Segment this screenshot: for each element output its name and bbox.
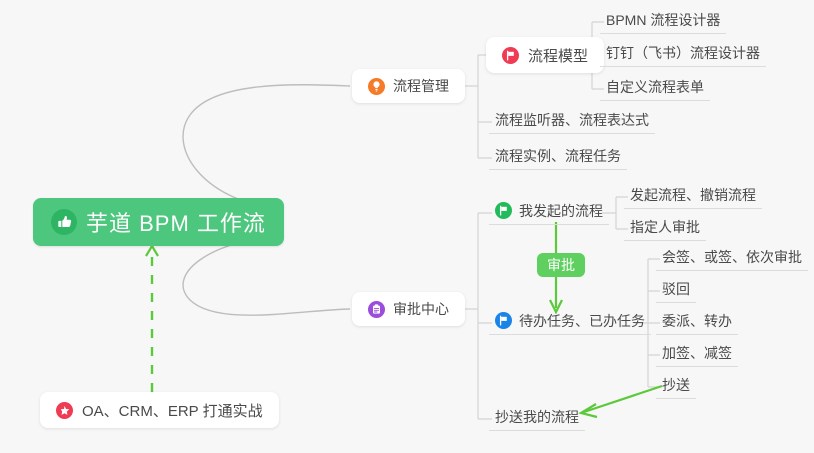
leaf-label: 钉钉（飞书）流程设计器 bbox=[606, 43, 760, 63]
leaf-label: 指定人审批 bbox=[630, 217, 700, 237]
leaf-custom-form[interactable]: 自定义流程表单 bbox=[600, 77, 710, 101]
lightbulb-pin-icon bbox=[368, 78, 385, 95]
node-label-todo-done-tasks: 待办任务、已办任务 bbox=[519, 311, 645, 331]
leaf-label: 驳回 bbox=[662, 279, 690, 299]
node-my-initiated-flows[interactable]: 我发起的流程 bbox=[489, 201, 609, 225]
flag-icon bbox=[495, 312, 512, 329]
flag-icon bbox=[502, 47, 519, 64]
leaf-add-remove-sign[interactable]: 加签、减签 bbox=[656, 343, 738, 367]
leaf-process-instance-task[interactable]: 流程实例、流程任务 bbox=[489, 146, 627, 170]
approval-badge-label: 审批 bbox=[547, 257, 575, 273]
leaf-countersign-modes[interactable]: 会签、或签、依次审批 bbox=[656, 247, 808, 271]
node-label-my-initiated-flows: 我发起的流程 bbox=[519, 201, 603, 221]
connector-ac-trunk bbox=[464, 213, 492, 419]
node-process-model[interactable]: 流程模型 bbox=[486, 37, 604, 73]
leaf-label: 加签、减签 bbox=[662, 343, 732, 363]
leaf-label: 会签、或签、依次审批 bbox=[662, 247, 802, 267]
mindmap-canvas: 芋道 BPM 工作流 流程管理 流程模型 BPMN 流程设计器 钉钉（飞书 bbox=[0, 0, 814, 453]
connector-root-to-process-management bbox=[183, 85, 350, 208]
leaf-cc[interactable]: 抄送 bbox=[656, 375, 696, 399]
connector-root-to-approval-center bbox=[183, 236, 350, 315]
leaf-label: 抄送 bbox=[662, 375, 690, 395]
bottom-note-label: OA、CRM、ERP 打通实战 bbox=[82, 400, 263, 421]
root-label: 芋道 BPM 工作流 bbox=[86, 206, 266, 238]
leaf-process-listener-expression[interactable]: 流程监听器、流程表达式 bbox=[489, 110, 655, 134]
leaf-label: 抄送我的流程 bbox=[495, 407, 579, 427]
flag-icon bbox=[495, 202, 512, 219]
branch-node-process-management[interactable]: 流程管理 bbox=[352, 69, 465, 103]
leaf-dingtalk-feishu-designer[interactable]: 钉钉（飞书）流程设计器 bbox=[600, 43, 766, 67]
star-icon bbox=[56, 402, 73, 419]
leaf-cc-to-me-flows[interactable]: 抄送我的流程 bbox=[489, 407, 585, 431]
leaf-start-cancel-flow[interactable]: 发起流程、撤销流程 bbox=[624, 185, 762, 209]
clipboard-icon bbox=[368, 301, 385, 318]
leaf-delegate-transfer[interactable]: 委派、转办 bbox=[656, 311, 738, 335]
leaf-assignee-approval[interactable]: 指定人审批 bbox=[624, 217, 706, 241]
branch-label-approval-center: 审批中心 bbox=[393, 299, 449, 319]
branch-label-process-management: 流程管理 bbox=[393, 76, 449, 96]
thumbs-up-icon bbox=[51, 209, 77, 235]
approval-badge[interactable]: 审批 bbox=[537, 253, 585, 277]
bottom-note-node[interactable]: OA、CRM、ERP 打通实战 bbox=[40, 392, 279, 428]
node-label-process-model: 流程模型 bbox=[528, 45, 588, 66]
leaf-label: 委派、转办 bbox=[662, 311, 732, 331]
leaf-label: 流程实例、流程任务 bbox=[495, 146, 621, 166]
leaf-label: 流程监听器、流程表达式 bbox=[495, 110, 649, 130]
branch-node-approval-center[interactable]: 审批中心 bbox=[352, 292, 465, 326]
cc-flow-arrow bbox=[584, 386, 662, 412]
leaf-label: BPMN 流程设计器 bbox=[606, 10, 720, 30]
root-node[interactable]: 芋道 BPM 工作流 bbox=[33, 198, 284, 246]
leaf-label: 发起流程、撤销流程 bbox=[630, 185, 756, 205]
leaf-label: 自定义流程表单 bbox=[606, 77, 704, 97]
node-todo-done-tasks[interactable]: 待办任务、已办任务 bbox=[489, 311, 651, 335]
leaf-bpmn-designer[interactable]: BPMN 流程设计器 bbox=[600, 10, 726, 34]
leaf-reject[interactable]: 驳回 bbox=[656, 279, 696, 303]
bottom-note-arrowhead bbox=[146, 246, 158, 256]
